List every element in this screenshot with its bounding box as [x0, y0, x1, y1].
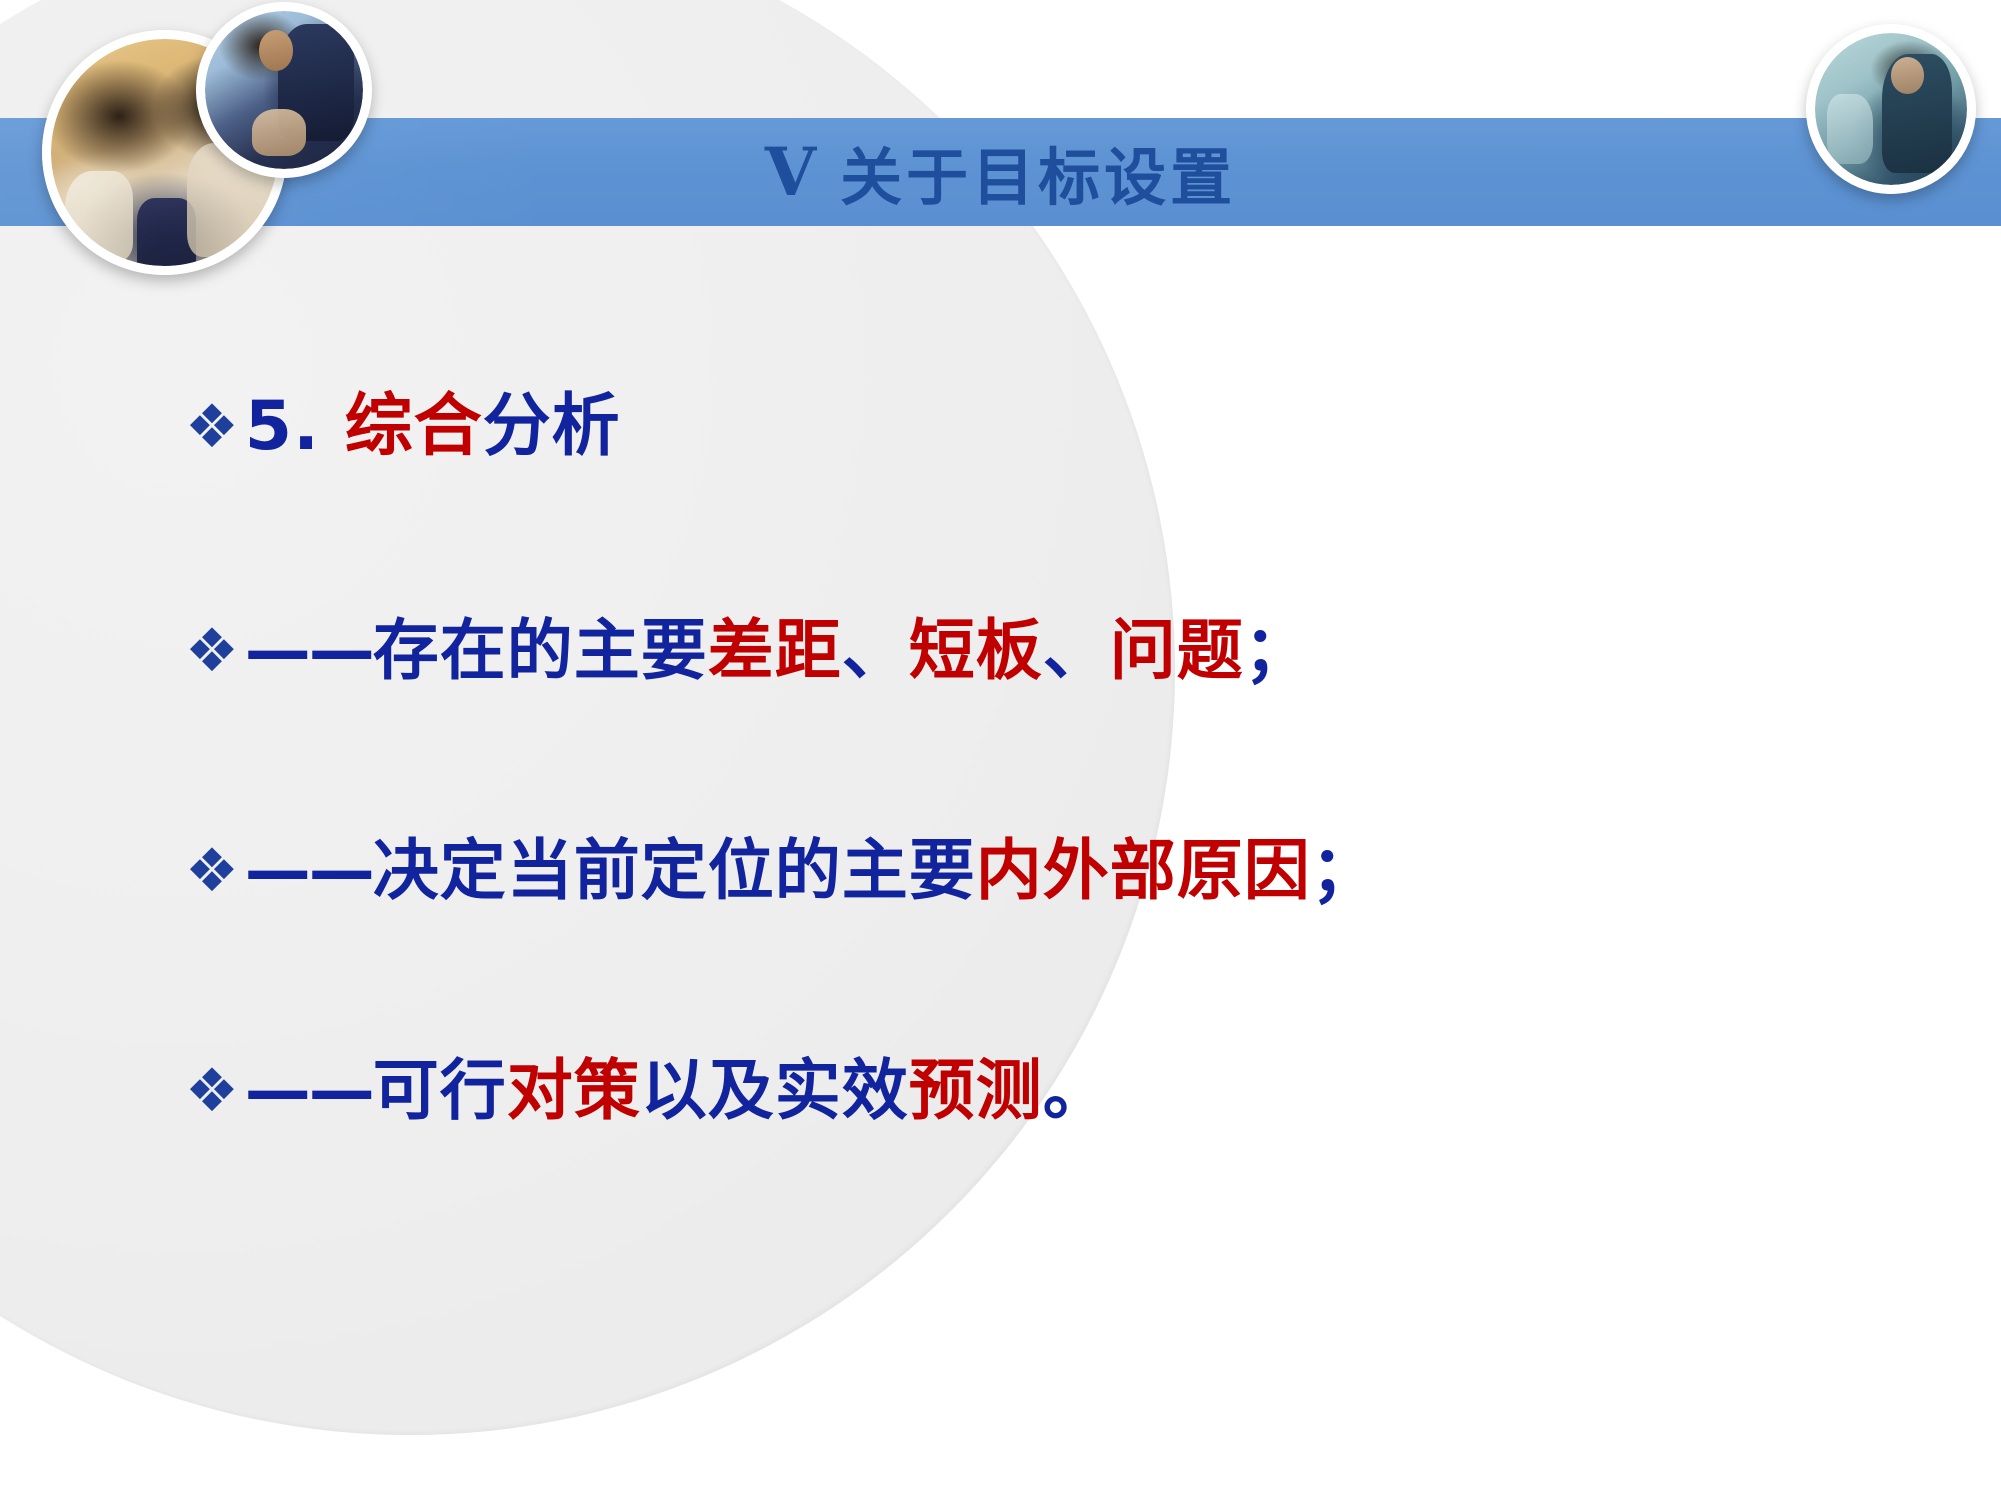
text-segment-blue: 、	[842, 612, 909, 689]
text-segment-red: 预测	[909, 1052, 1043, 1129]
photo-detail-hands	[252, 109, 306, 156]
text-segment-red: 短板	[909, 612, 1043, 689]
bullet-line-3: ❖ ——决定当前定位的主要内外部原因；	[185, 836, 1378, 905]
photo-handshake-image	[205, 11, 363, 169]
text-segment-red: 对策	[507, 1052, 641, 1129]
title-label: 关于目标设置	[840, 127, 1236, 217]
text-segment-blue: ——	[245, 1052, 373, 1129]
bullet-line-1: ❖ 5. 综合分析	[185, 391, 621, 462]
text-segment-blue: 5.	[245, 387, 320, 466]
photo-detail-face	[1891, 57, 1924, 93]
diamond-bullet-icon: ❖	[185, 1061, 239, 1121]
text-segment-blue: ——	[245, 832, 373, 909]
text-segment-blue: 。	[1043, 1052, 1110, 1129]
bullet-line-1-text: 5. 综合分析	[245, 391, 621, 462]
text-segment-blue: 存在的主要	[373, 612, 708, 689]
text-segment-blue: ；	[1244, 612, 1311, 689]
photo-detail-shirt	[65, 171, 133, 262]
slide-body: ❖ 5. 综合分析 ❖ ——存在的主要差距、短板、问题； ❖ ——决定当前定位的…	[0, 226, 2001, 1501]
text-segment-blue: 分析	[483, 387, 621, 466]
slide-canvas: Ⅴ 关于目标设置 ❖ 5. 综合分析 ❖	[0, 0, 2001, 1501]
text-segment-blue: ——	[245, 612, 373, 689]
bullet-line-2: ❖ ——存在的主要差距、短板、问题；	[185, 616, 1311, 685]
text-segment-blue: 可行	[373, 1052, 507, 1129]
title-roman-numeral: Ⅴ	[765, 133, 816, 212]
text-segment-red: 问题	[1110, 612, 1244, 689]
photo-office-man-image	[1815, 33, 1967, 185]
diamond-bullet-icon: ❖	[185, 841, 239, 901]
bullet-line-4: ❖ ——可行对策以及实效预测。	[185, 1056, 1110, 1125]
diamond-bullet-icon: ❖	[185, 397, 239, 457]
photo-detail-window	[1827, 94, 1873, 164]
text-segment-blue: 、	[1043, 612, 1110, 689]
text-segment-red: 综合	[345, 387, 483, 466]
text-segment-blue: 决定当前定位的主要	[373, 832, 976, 909]
photo-office-man	[1806, 24, 1976, 194]
text-segment-blue	[320, 387, 345, 466]
text-segment-red: 差距	[708, 612, 842, 689]
bullet-line-4-text: ——可行对策以及实效预测。	[245, 1056, 1110, 1125]
text-segment-blue: 以及实效	[641, 1052, 909, 1129]
photo-handshake	[196, 2, 372, 178]
diamond-bullet-icon: ❖	[185, 621, 239, 681]
bullet-line-2-text: ——存在的主要差距、短板、问题；	[245, 616, 1311, 685]
bullet-line-3-text: ——决定当前定位的主要内外部原因；	[245, 836, 1378, 905]
text-segment-red: 内外部原因	[976, 832, 1311, 909]
text-segment-blue: ；	[1311, 832, 1378, 909]
